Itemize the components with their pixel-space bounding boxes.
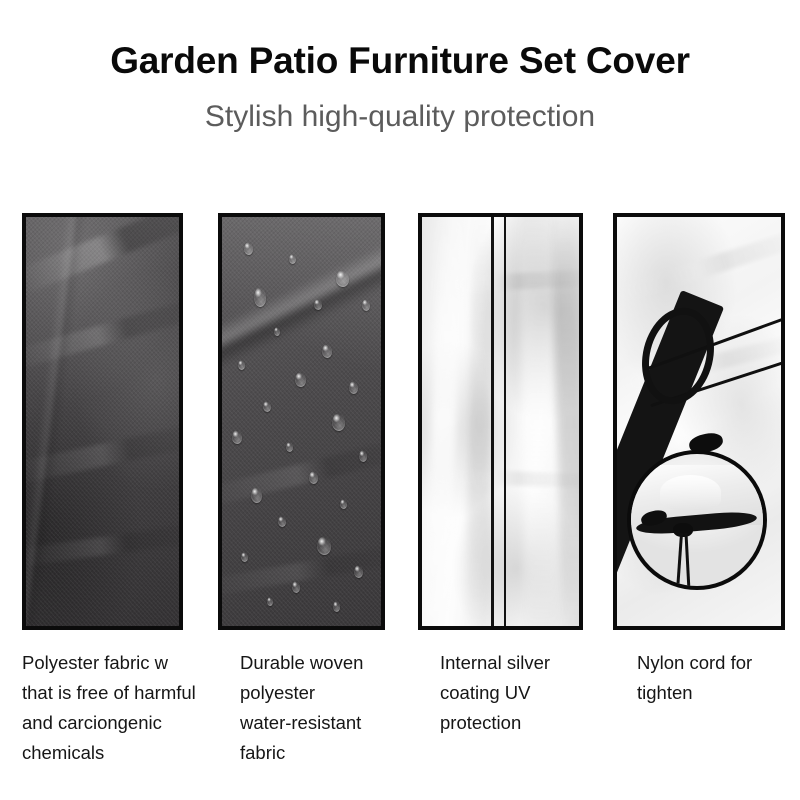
- silver-coating-interior-photo: [422, 217, 579, 626]
- nylon-cord-toggle-photo: [617, 217, 781, 626]
- caption-water-resistant: Durable woven polyester water-resistant …: [240, 648, 390, 768]
- feature-panel-polyester-fabric: [22, 213, 183, 630]
- header: Garden Patio Furniture Set Cover Stylish…: [0, 0, 800, 132]
- seam-line-left: [491, 217, 494, 626]
- feature-panel-strip: [0, 213, 800, 633]
- caption-silver-coating: Internal silver coating UV protection: [440, 648, 590, 738]
- water-droplets-on-fabric-photo: [222, 217, 381, 626]
- page-title: Garden Patio Furniture Set Cover: [0, 42, 800, 79]
- seam-line-right: [504, 217, 507, 626]
- caption-nylon-cord: Nylon cord for tighten: [637, 648, 787, 708]
- feature-panel-nylon-cord: [613, 213, 785, 630]
- feature-panel-water-resistant: [218, 213, 385, 630]
- page-subtitle: Stylish high-quality protection: [0, 102, 800, 132]
- caption-polyester-fabric: Polyester fabric w that is free of harmf…: [22, 648, 202, 768]
- caption-row: Polyester fabric w that is free of harmf…: [0, 648, 800, 800]
- feature-panel-silver-coating: [418, 213, 583, 630]
- magnified-detail-inset: [627, 450, 767, 590]
- dark-polyester-fabric-photo: [26, 217, 179, 626]
